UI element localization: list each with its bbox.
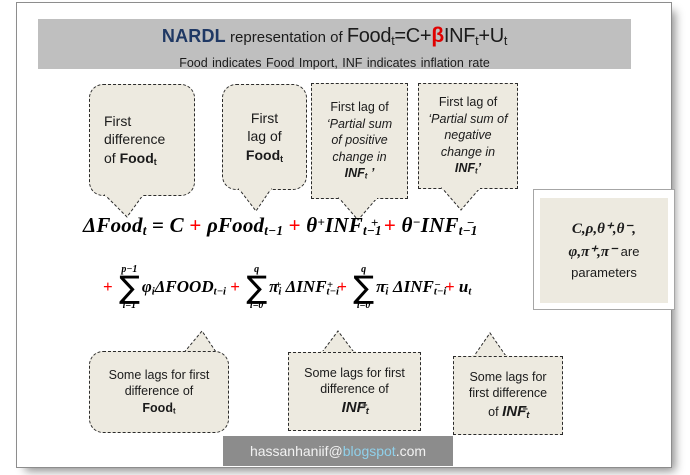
callout-line: First <box>104 112 131 130</box>
eq1-theta-neg: θ <box>402 213 413 237</box>
subtitle: Food indicates Food Import, INF indicate… <box>38 56 631 70</box>
eq2-phi: φ <box>142 277 152 296</box>
callout-first-lag-food: First lag of Foodt <box>222 84 307 190</box>
title-equation: Foodt=C+βINFt+Ut <box>347 25 507 47</box>
eq1-inf-pos: INF <box>325 213 363 237</box>
callout-line: difference of <box>125 383 194 400</box>
parameters-box: C,ρ,θ⁺,θ⁻, φ,π⁺,π⁻ are parameters <box>533 189 675 310</box>
callout-line: of Foodt <box>104 149 157 169</box>
callout-first-lag-partial-sum-positive: First lag of ‘Partial sum of positive ch… <box>311 83 408 199</box>
eq2-delta-inf-neg: ΔINF <box>393 277 434 296</box>
callout-line: INFt ’ <box>345 165 375 182</box>
watermark-domain: blogspot <box>343 443 396 459</box>
parameters-line-3: parameters <box>571 263 637 283</box>
eq1-constant: C <box>170 213 184 237</box>
summation-3: q ∑ i=0 <box>353 265 374 311</box>
callout-lags-first-difference-inf-positive: Some lags for first difference of INFt+ <box>288 352 421 431</box>
page-title: NARDL representation of Foodt=C+βINFt+Ut <box>38 24 631 53</box>
title-beta: β <box>431 24 444 47</box>
summation-2: q ∑ i=0 <box>246 265 267 311</box>
callout-line: difference <box>104 130 165 148</box>
callout-line: First lag of <box>439 94 497 111</box>
eq1-inf-neg: INF <box>421 213 459 237</box>
callout-line: of INFt− <box>488 402 528 423</box>
callout-line: Some lags for <box>469 369 546 386</box>
eq1-term-rho-food: ρFood <box>207 213 264 237</box>
title-food: Food <box>347 25 391 47</box>
callout-line: change in <box>441 144 495 161</box>
eq1-plus: + <box>189 213 201 237</box>
callout-lags-first-difference-food: Some lags for first difference of Foodt <box>89 351 229 433</box>
eq2-plus: + <box>103 277 113 296</box>
eq2-delta-food: ΔFOOD <box>155 277 214 296</box>
parameters-box-inner: C,ρ,θ⁺,θ⁻, φ,π⁺,π⁻ are parameters <box>540 198 668 303</box>
title-nardl: NARDL <box>162 26 226 46</box>
equation-line-2: + p−1 ∑ i=1 φiΔFOODt−i + q ∑ i=0 πi+ ΔIN… <box>103 265 573 311</box>
title-plus-u: +U <box>478 25 504 47</box>
eq1-plus: + <box>289 213 301 237</box>
callout-line: difference of <box>320 381 389 398</box>
callout-line: change in <box>332 149 386 166</box>
parameters-line-2: φ,π⁺,π⁻ are <box>569 241 640 264</box>
callout-line: first difference <box>469 385 547 402</box>
eq1-lhs: ΔFood <box>83 213 143 237</box>
eq2-plus: + <box>445 277 455 296</box>
callout-line: of positive <box>331 132 387 149</box>
callout-line: Some lags for first <box>109 367 210 384</box>
slide-canvas: NARDL representation of Foodt=C+βINFt+Ut… <box>16 2 672 468</box>
eq2-plus: + <box>337 277 347 296</box>
eq2-delta-inf-pos: ΔINF <box>286 277 327 296</box>
callout-line: First <box>251 109 278 127</box>
callout-line: First lag of <box>330 99 388 116</box>
watermark-user: hassanhaniif@ <box>250 443 343 459</box>
title-inf: INF <box>444 25 475 47</box>
equation-line-1: ΔFoodt = C + ρFoodt−1 + θ+INFt−1+ + θ−IN… <box>83 213 553 239</box>
callout-line: INFt’ <box>455 160 481 177</box>
callout-first-difference-food: First difference of Foodt <box>89 84 195 196</box>
eq1-theta-pos: θ <box>306 213 317 237</box>
eq2-plus: + <box>230 277 240 296</box>
callout-line: Foodt <box>142 400 175 417</box>
eq1-equals: = <box>147 213 170 237</box>
callout-lags-first-difference-inf-negative: Some lags for first difference of INFt− <box>453 356 563 435</box>
callout-line: lag of <box>247 127 281 145</box>
watermark-bar: hassanhaniif@blogspot.com <box>223 436 453 466</box>
watermark-tld: .com <box>396 443 426 459</box>
callout-line: ‘Partial sum <box>327 116 392 133</box>
callout-tail <box>239 187 289 213</box>
title-eq-sign: =C+ <box>394 25 431 47</box>
eq2-error-term: u <box>459 277 468 296</box>
callout-line: INFt+ <box>342 398 368 419</box>
title-mid: representation of <box>226 29 347 46</box>
callout-line: negative <box>444 127 491 144</box>
parameters-line-1: C,ρ,θ⁺,θ⁻, <box>572 218 636 241</box>
title-banner: NARDL representation of Foodt=C+βINFt+Ut… <box>38 19 631 69</box>
title-u-sub: t <box>504 34 507 48</box>
callout-line: Some lags for first <box>304 365 405 382</box>
summation-1: p−1 ∑ i=1 <box>119 265 140 311</box>
eq1-plus: + <box>384 213 396 237</box>
callout-tail <box>442 186 502 212</box>
callout-first-lag-partial-sum-negative: First lag of ‘Partial sum of negative ch… <box>418 83 518 189</box>
callout-line: ‘Partial sum of <box>428 111 507 128</box>
callout-line: Foodt <box>246 146 283 166</box>
